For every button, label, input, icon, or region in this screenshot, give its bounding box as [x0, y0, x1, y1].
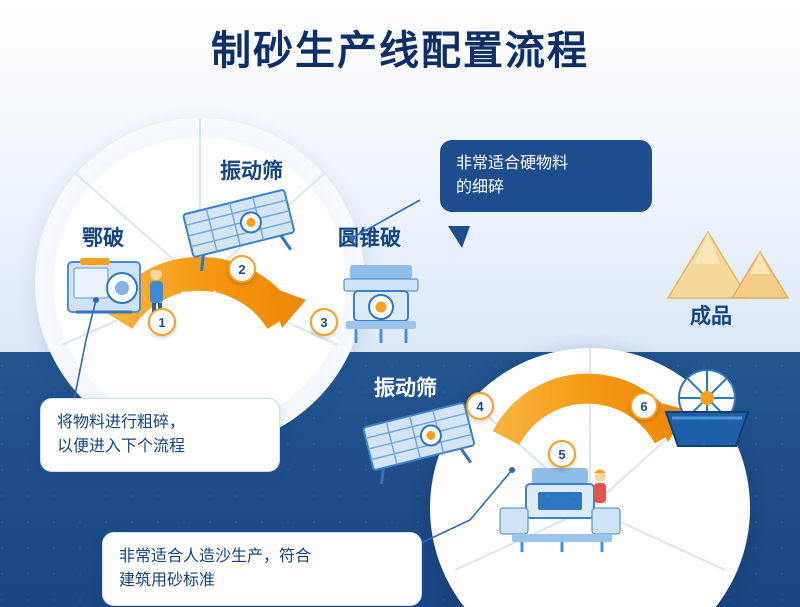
- sand-making-arc-label: 制砂: [548, 412, 632, 437]
- cone-crusher-icon: [336, 255, 432, 352]
- diagram-canvas: 制砂生产线配置流程 破碎: [0, 0, 800, 607]
- step-number-1: 1: [148, 308, 176, 336]
- step-number-5: 5: [548, 440, 576, 468]
- callout-jaw-line-1: 将物料进行粗碎，: [57, 411, 263, 435]
- callout-sand-line-1: 非常适合人造沙生产，符合: [119, 545, 405, 569]
- sand-washer-icon: [652, 362, 762, 459]
- step-label-5: 制砂机: [528, 550, 591, 580]
- callout-sand-line-2: 建筑用砂标准: [119, 569, 405, 593]
- callout-jaw: 将物料进行粗碎， 以便进入下个流程: [40, 398, 280, 472]
- sand-pile-icon: [660, 218, 790, 309]
- callout-cone-line-1: 非常适合硬物料: [456, 152, 636, 176]
- step-label-3: 圆锥破: [338, 222, 401, 252]
- vibrating-screen-icon-2: [358, 398, 484, 489]
- step-number-2: 2: [228, 255, 256, 283]
- step-number-3: 3: [310, 308, 338, 336]
- callout-cone-line-2: 的细碎: [456, 176, 636, 200]
- step-number-6: 6: [630, 392, 658, 420]
- step-label-2: 振动筛: [220, 155, 283, 185]
- callout-jaw-line-2: 以便进入下个流程: [57, 435, 263, 459]
- page-title: 制砂生产线配置流程: [0, 18, 800, 76]
- sand-maker-icon: [492, 462, 632, 557]
- step-number-4: 4: [466, 392, 494, 420]
- callout-cone: 非常适合硬物料 的细碎: [440, 140, 652, 212]
- product-label: 成品: [690, 300, 732, 330]
- step-label-4: 振动筛: [374, 372, 437, 402]
- callout-sand: 非常适合人造沙生产，符合 建筑用砂标准: [102, 532, 422, 606]
- step-label-1: 鄂破: [82, 222, 124, 252]
- step-label-6: 洗砂机: [664, 452, 727, 482]
